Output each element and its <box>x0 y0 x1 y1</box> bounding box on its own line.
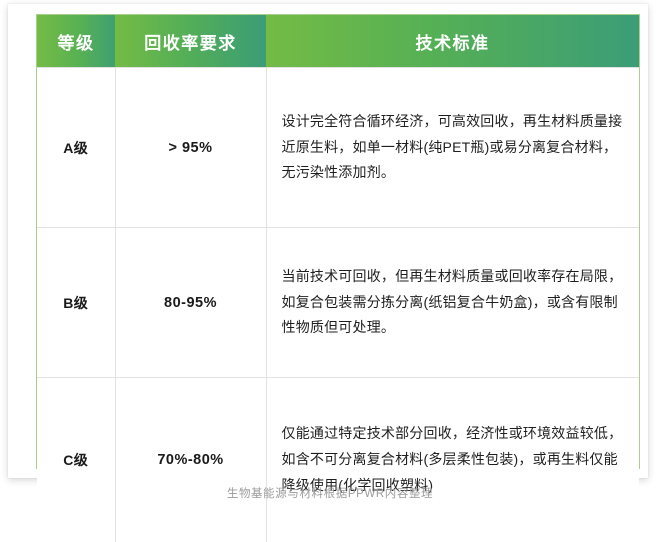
page-root: 等级 回收率要求 技术标准 A级 > 95% 设计完全符合循环经济，可高效回收，… <box>0 0 660 509</box>
cell-standard: 设计完全符合循环经济，可高效回收，再生材料质量接近原生料，如单一材料(纯PET瓶… <box>266 68 639 228</box>
recycling-grade-table: 等级 回收率要求 技术标准 A级 > 95% 设计完全符合循环经济，可高效回收，… <box>37 15 639 542</box>
cell-rate: 80-95% <box>115 228 266 378</box>
table-card: 等级 回收率要求 技术标准 A级 > 95% 设计完全符合循环经济，可高效回收，… <box>8 4 648 478</box>
cell-grade: C级 <box>37 378 115 542</box>
cell-standard: 当前技术可回收，但再生材料质量或回收率存在局限，如复合包装需分拣分离(纸铝复合牛… <box>266 228 639 378</box>
cell-grade: B级 <box>37 228 115 378</box>
column-header-technical-standard: 技术标准 <box>266 15 639 68</box>
cell-rate: 70%-80% <box>115 378 266 542</box>
table-header: 等级 回收率要求 技术标准 <box>37 15 639 68</box>
table-header-row: 等级 回收率要求 技术标准 <box>37 15 639 68</box>
table-row: B级 80-95% 当前技术可回收，但再生材料质量或回收率存在局限，如复合包装需… <box>37 228 639 378</box>
table-row: A级 > 95% 设计完全符合循环经济，可高效回收，再生材料质量接近原生料，如单… <box>37 68 639 228</box>
cell-grade: A级 <box>37 68 115 228</box>
source-footnote: 生物基能源与材料根据PPWR内容整理 <box>0 485 660 501</box>
cell-standard: 仅能通过特定技术部分回收，经济性或环境效益较低，如含不可分离复合材料(多层柔性包… <box>266 378 639 542</box>
page-canvas: 等级 回收率要求 技术标准 A级 > 95% 设计完全符合循环经济，可高效回收，… <box>0 0 660 509</box>
grade-table-container: 等级 回收率要求 技术标准 A级 > 95% 设计完全符合循环经济，可高效回收，… <box>36 14 640 469</box>
table-body: A级 > 95% 设计完全符合循环经济，可高效回收，再生材料质量接近原生料，如单… <box>37 68 639 542</box>
table-row: C级 70%-80% 仅能通过特定技术部分回收，经济性或环境效益较低，如含不可分… <box>37 378 639 542</box>
column-header-grade: 等级 <box>37 15 115 68</box>
column-header-recycling-rate: 回收率要求 <box>115 15 266 68</box>
cell-rate: > 95% <box>115 68 266 228</box>
